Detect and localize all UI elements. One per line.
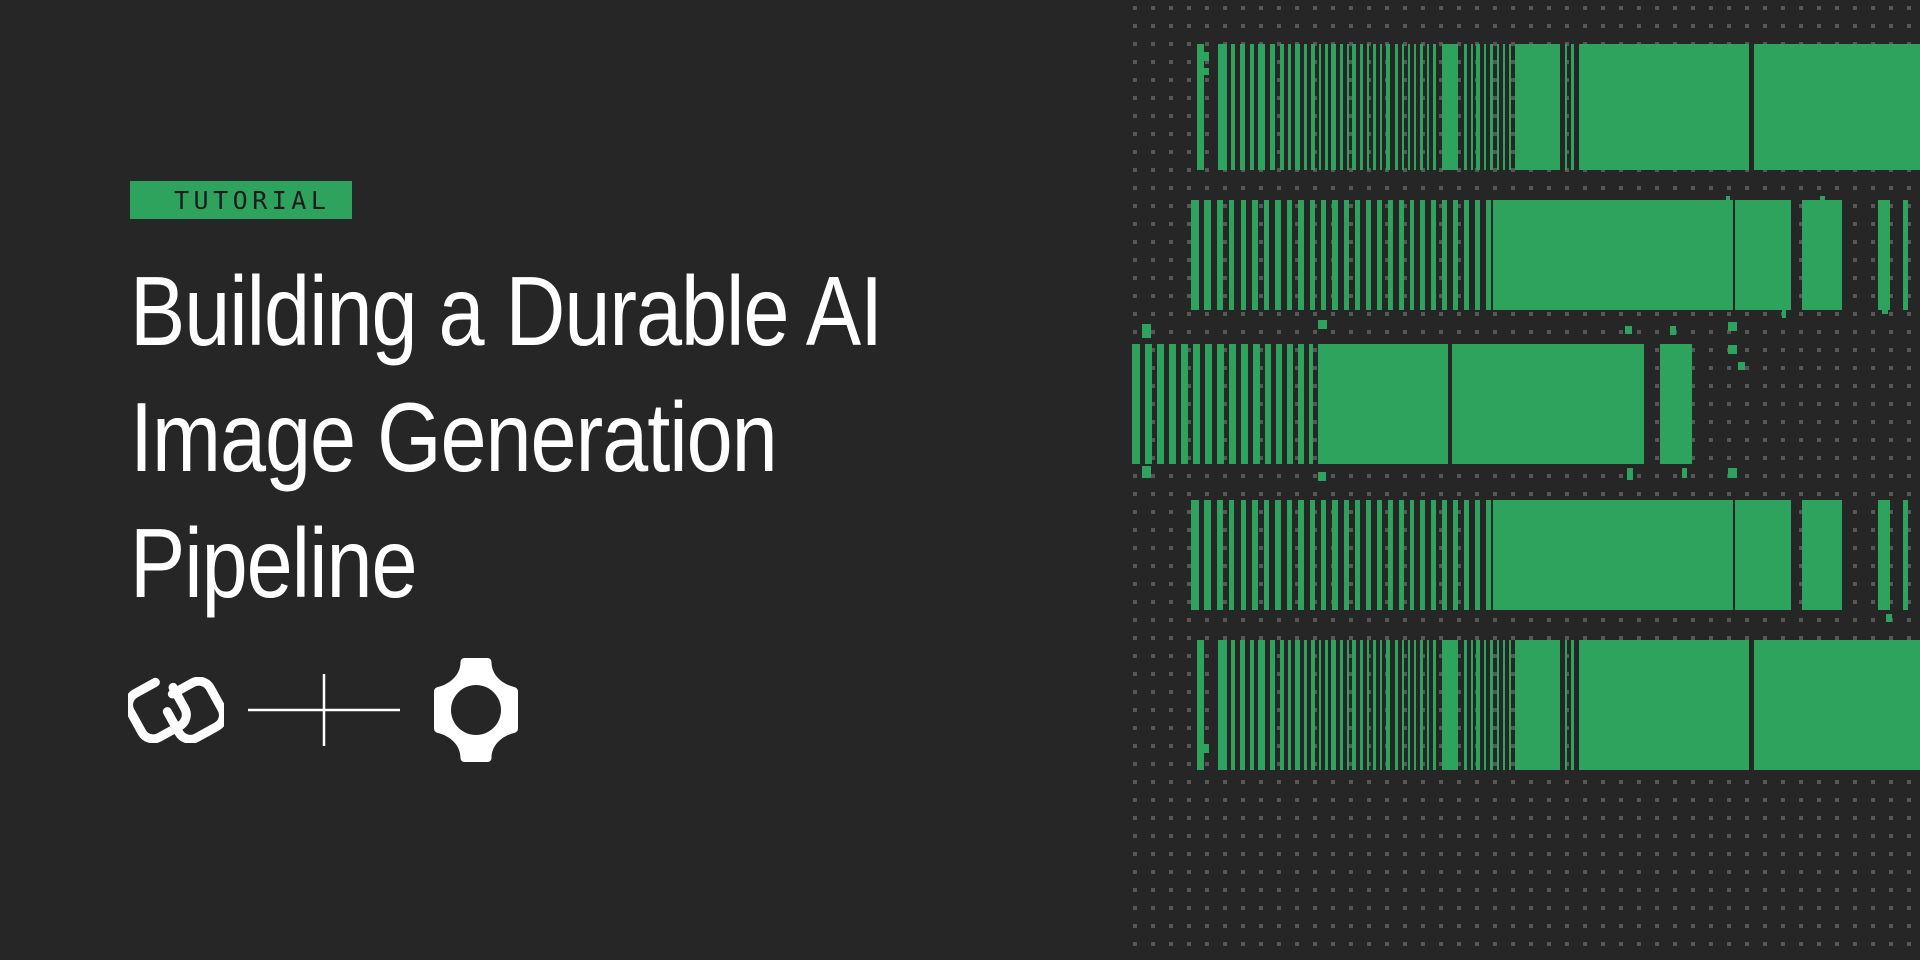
bar xyxy=(1735,200,1791,310)
bar xyxy=(1476,640,1480,770)
bar xyxy=(1360,640,1363,770)
bar xyxy=(1204,500,1211,610)
bar xyxy=(1193,344,1200,464)
bar xyxy=(1252,500,1258,610)
bar xyxy=(1414,640,1416,770)
bar xyxy=(1288,640,1291,770)
bar-speck xyxy=(1820,196,1825,204)
bar xyxy=(1399,200,1404,310)
bar xyxy=(1414,44,1416,170)
bar xyxy=(1231,44,1235,170)
bar xyxy=(1217,200,1223,310)
bar xyxy=(1229,200,1234,310)
bar xyxy=(1191,200,1199,310)
bar xyxy=(1204,200,1211,310)
bar xyxy=(1497,640,1499,770)
bar-band xyxy=(1130,344,1920,464)
bar xyxy=(1241,200,1246,310)
bar xyxy=(1275,200,1281,310)
bar-speck xyxy=(1726,196,1730,204)
bar xyxy=(1420,640,1423,770)
content-panel: TUTORIAL Building a Durable AI Image Gen… xyxy=(0,0,1130,960)
bar xyxy=(1217,344,1224,464)
bar xyxy=(1442,44,1458,170)
bar xyxy=(1270,44,1275,170)
bar xyxy=(1802,200,1842,310)
bar xyxy=(1288,44,1291,170)
bar-speck xyxy=(1738,362,1745,370)
bar xyxy=(1402,44,1404,170)
bar xyxy=(1340,44,1343,170)
bar-band xyxy=(1130,44,1920,170)
bar xyxy=(1311,640,1315,770)
bar xyxy=(1420,200,1425,310)
bar xyxy=(1367,640,1369,770)
bar xyxy=(1735,500,1791,610)
bar xyxy=(1240,640,1245,770)
bar xyxy=(1515,44,1560,170)
bar xyxy=(1231,640,1235,770)
bar xyxy=(1442,640,1458,770)
bar xyxy=(1579,640,1749,770)
bar xyxy=(1490,44,1493,170)
bar xyxy=(1410,200,1414,310)
bar xyxy=(1420,44,1423,170)
bar xyxy=(1380,44,1382,170)
bar xyxy=(1471,44,1473,170)
bar xyxy=(1325,640,1328,770)
bar xyxy=(1270,640,1275,770)
bar xyxy=(1373,640,1376,770)
bar xyxy=(1258,640,1265,770)
bar xyxy=(1431,500,1436,610)
bar-speck xyxy=(1882,306,1888,314)
bar xyxy=(1344,500,1349,610)
bar xyxy=(1191,500,1199,610)
bar-speck xyxy=(1200,744,1209,753)
bar xyxy=(1493,200,1733,310)
bar xyxy=(1579,44,1749,170)
bar xyxy=(1571,44,1574,170)
eyebrow-badge-label: TUTORIAL xyxy=(174,188,330,213)
bar xyxy=(1408,44,1410,170)
bar xyxy=(1386,44,1390,170)
bar xyxy=(1476,44,1480,170)
bar xyxy=(1388,500,1393,610)
bar xyxy=(1218,640,1227,770)
bar xyxy=(1229,500,1234,610)
bar xyxy=(1331,44,1336,170)
bar xyxy=(1442,500,1447,610)
bar xyxy=(1355,200,1360,310)
logo-lockup xyxy=(128,660,528,760)
bar xyxy=(1311,44,1315,170)
bar xyxy=(1410,500,1414,610)
bar xyxy=(1509,640,1511,770)
bar xyxy=(1264,500,1269,610)
bar-band xyxy=(1130,500,1920,610)
bar xyxy=(1298,200,1304,310)
bar xyxy=(1475,200,1480,310)
tutorial-banner: TUTORIAL Building a Durable AI Image Gen… xyxy=(0,0,1920,960)
bar xyxy=(1241,500,1246,610)
bar xyxy=(1145,344,1152,464)
bar xyxy=(1754,640,1920,770)
bar xyxy=(1318,344,1448,464)
bar xyxy=(1304,640,1307,770)
bar xyxy=(1218,44,1227,170)
bar xyxy=(1433,44,1436,170)
bar xyxy=(1355,500,1360,610)
page-title: Building a Durable AI Image Generation P… xyxy=(130,248,1090,626)
bar xyxy=(1258,44,1265,170)
bar xyxy=(1331,640,1336,770)
bar xyxy=(1509,44,1511,170)
bar-speck xyxy=(1200,68,1209,75)
bar xyxy=(1565,640,1567,770)
bar xyxy=(1181,344,1188,464)
bar xyxy=(1395,44,1398,170)
bar xyxy=(1373,44,1376,170)
bar-speck xyxy=(1142,466,1151,478)
bar xyxy=(1309,344,1313,464)
bar xyxy=(1298,500,1304,610)
eyebrow-badge: TUTORIAL xyxy=(130,181,352,219)
bar xyxy=(1169,344,1176,464)
bar xyxy=(1366,500,1371,610)
bar xyxy=(1571,640,1574,770)
bar xyxy=(1265,344,1271,464)
bar xyxy=(1464,44,1467,170)
bar xyxy=(1380,640,1382,770)
bar-speck xyxy=(1728,322,1737,331)
chain-link-logo-icon xyxy=(128,677,224,743)
bar-speck xyxy=(1782,310,1786,318)
bar xyxy=(1250,640,1254,770)
bar-speck xyxy=(1627,468,1633,480)
bar xyxy=(1340,640,1343,770)
bar xyxy=(1157,344,1164,464)
bar xyxy=(1464,200,1469,310)
bar xyxy=(1287,500,1292,610)
bar xyxy=(1464,640,1467,770)
bar xyxy=(1503,44,1505,170)
bar xyxy=(1565,44,1567,170)
bar xyxy=(1464,500,1469,610)
bar xyxy=(1280,640,1284,770)
bar xyxy=(1427,640,1429,770)
bar xyxy=(1903,500,1908,610)
bar xyxy=(1442,200,1447,310)
bar xyxy=(1332,500,1338,610)
bar xyxy=(1197,44,1204,170)
bar xyxy=(1250,44,1254,170)
bar xyxy=(1754,44,1920,170)
bar xyxy=(1295,44,1300,170)
plus-connector-icon xyxy=(248,674,400,746)
waveform-bars-layer xyxy=(1130,0,1920,960)
bar xyxy=(1325,44,1328,170)
bar-speck xyxy=(1682,468,1687,478)
bar xyxy=(1484,44,1486,170)
bar-band xyxy=(1130,200,1920,310)
bar xyxy=(1295,640,1300,770)
bar xyxy=(1276,344,1282,464)
bar xyxy=(1490,640,1493,770)
bar xyxy=(1503,640,1505,770)
bar xyxy=(1878,200,1890,310)
bar xyxy=(1388,200,1393,310)
bar xyxy=(1321,500,1326,610)
bar xyxy=(1347,640,1349,770)
bar xyxy=(1903,200,1908,310)
bar xyxy=(1497,44,1499,170)
bar xyxy=(1660,344,1692,464)
bar xyxy=(1217,500,1223,610)
bar xyxy=(1310,500,1315,610)
bar xyxy=(1433,640,1436,770)
bar xyxy=(1344,200,1349,310)
bar xyxy=(1352,44,1356,170)
bar xyxy=(1452,344,1644,464)
bar xyxy=(1484,640,1486,770)
bar xyxy=(1366,200,1371,310)
bar xyxy=(1360,44,1363,170)
bar xyxy=(1399,500,1404,610)
bar-speck xyxy=(1625,326,1632,334)
bar xyxy=(1287,344,1293,464)
bar-speck xyxy=(1142,324,1151,338)
bar xyxy=(1427,44,1429,170)
bar xyxy=(1420,500,1425,610)
bar xyxy=(1377,200,1382,310)
bar xyxy=(1408,640,1410,770)
bar xyxy=(1486,500,1491,610)
bar xyxy=(1352,640,1356,770)
bar-speck xyxy=(1728,468,1737,478)
bar xyxy=(1253,344,1260,464)
bar xyxy=(1386,640,1390,770)
bar xyxy=(1377,500,1382,610)
bar xyxy=(1264,200,1269,310)
bar xyxy=(1332,200,1338,310)
bar-speck xyxy=(1200,52,1209,61)
bar xyxy=(1319,44,1321,170)
bar xyxy=(1515,640,1560,770)
bar xyxy=(1319,640,1321,770)
bar xyxy=(1287,200,1292,310)
bar xyxy=(1252,200,1258,310)
bar xyxy=(1240,44,1245,170)
bar xyxy=(1205,344,1212,464)
bar xyxy=(1367,44,1369,170)
bar xyxy=(1878,500,1890,610)
bar xyxy=(1275,500,1281,610)
bar xyxy=(1802,500,1842,610)
bar xyxy=(1453,500,1458,610)
bar-band xyxy=(1130,640,1920,770)
bar-speck xyxy=(1318,320,1327,329)
page-title-line-1: Building a Durable AI xyxy=(130,248,941,374)
bar xyxy=(1241,344,1248,464)
page-title-line-3: Pipeline xyxy=(130,500,941,626)
bar-speck xyxy=(1670,326,1676,335)
bar xyxy=(1310,200,1315,310)
bar xyxy=(1493,500,1733,610)
bar xyxy=(1395,640,1398,770)
page-title-line-2: Image Generation xyxy=(130,374,941,500)
graphic-panel xyxy=(1130,0,1920,960)
bar-speck xyxy=(1728,345,1737,354)
bar xyxy=(1402,640,1404,770)
bar xyxy=(1471,640,1473,770)
bar xyxy=(1486,200,1491,310)
bar xyxy=(1321,200,1326,310)
bar-speck xyxy=(1318,472,1326,481)
cog-gear-logo-icon xyxy=(424,658,528,762)
bar xyxy=(1475,500,1480,610)
bar xyxy=(1431,200,1436,310)
bar xyxy=(1229,344,1236,464)
bar xyxy=(1347,44,1349,170)
bar xyxy=(1304,44,1307,170)
bar xyxy=(1280,44,1284,170)
bar xyxy=(1298,344,1304,464)
bar xyxy=(1132,344,1140,464)
bar xyxy=(1453,200,1458,310)
bar-speck xyxy=(1886,614,1892,622)
